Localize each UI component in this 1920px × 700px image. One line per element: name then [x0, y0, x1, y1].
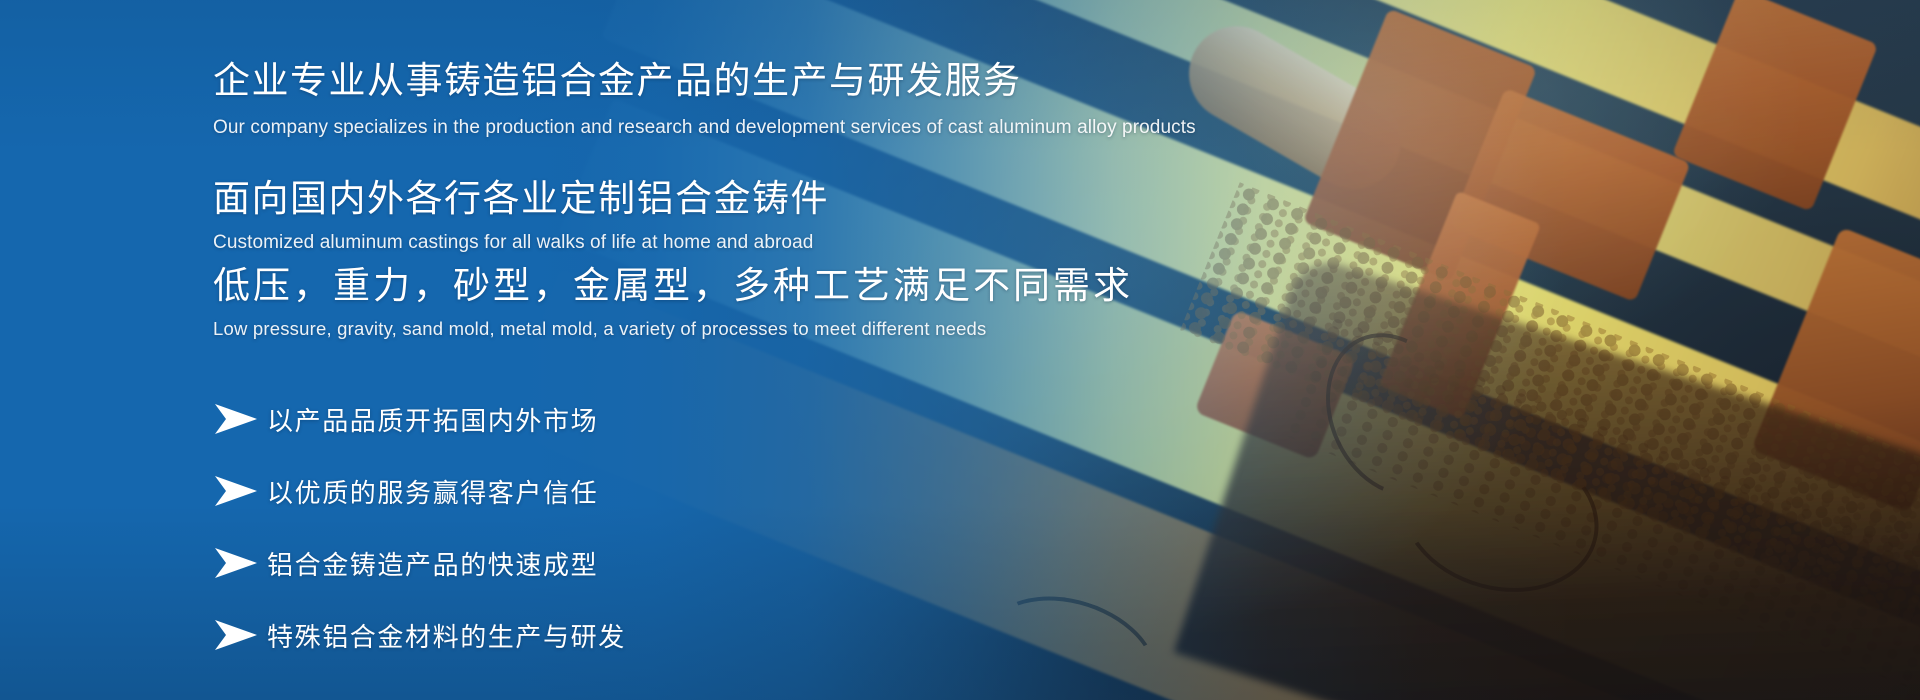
heading-3-en: Low pressure, gravity, sand mold, metal …	[213, 318, 1133, 340]
heading-1-cn: 企业专业从事铸造铝合金产品的生产与研发服务	[213, 58, 1196, 104]
arrow-right-icon	[213, 475, 267, 507]
feature-list-item: 以优质的服务赢得客户信任	[213, 467, 626, 515]
feature-list-item-label: 铝合金铸造产品的快速成型	[267, 545, 598, 582]
heading-3-cn: 低压，重力，砂型，金属型，多种工艺满足不同需求	[213, 263, 1133, 309]
feature-list-item: 铝合金铸造产品的快速成型	[213, 539, 626, 587]
hero-banner: 企业专业从事铸造铝合金产品的生产与研发服务 Our company specia…	[0, 0, 1920, 700]
feature-list: 以产品品质开拓国内外市场 以优质的服务赢得客户信任 铝合金铸造产品的快速成型	[213, 395, 626, 659]
heading-block-1: 企业专业从事铸造铝合金产品的生产与研发服务 Our company specia…	[213, 58, 1196, 139]
heading-block-2: 面向国内外各行各业定制铝合金铸件 Customized aluminum cas…	[213, 176, 829, 254]
heading-2-en: Customized aluminum castings for all wal…	[213, 232, 829, 254]
arrow-right-icon	[213, 619, 267, 651]
heading-1-en: Our company specializes in the productio…	[213, 117, 1196, 139]
heading-2-cn: 面向国内外各行各业定制铝合金铸件	[213, 176, 829, 222]
feature-list-item-label: 特殊铝合金材料的生产与研发	[267, 617, 626, 654]
feature-list-item-label: 以产品品质开拓国内外市场	[267, 401, 598, 438]
arrow-right-icon	[213, 403, 267, 435]
feature-list-item: 特殊铝合金材料的生产与研发	[213, 611, 626, 659]
arrow-right-icon	[213, 547, 267, 579]
feature-list-item-label: 以优质的服务赢得客户信任	[267, 473, 598, 510]
banner-content: 企业专业从事铸造铝合金产品的生产与研发服务 Our company specia…	[213, 0, 1513, 700]
feature-list-item: 以产品品质开拓国内外市场	[213, 395, 626, 443]
heading-block-3: 低压，重力，砂型，金属型，多种工艺满足不同需求 Low pressure, gr…	[213, 263, 1133, 340]
